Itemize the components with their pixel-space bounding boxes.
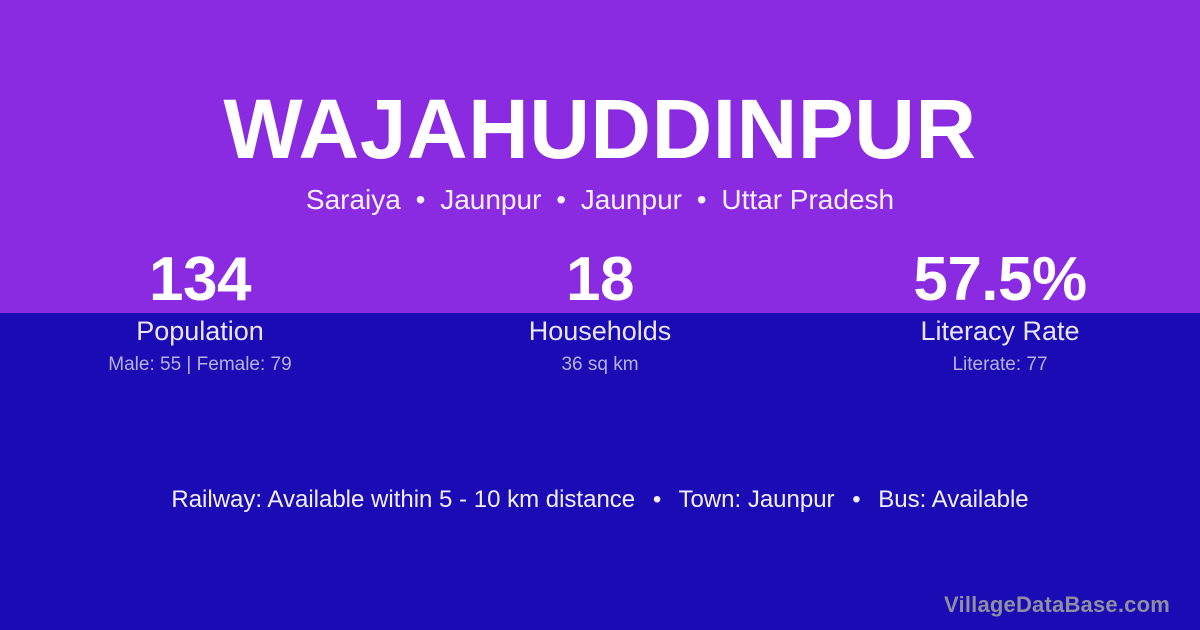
- stat-households: 18 Households 36 sq km: [400, 248, 800, 376]
- breadcrumb-block: Jaunpur: [440, 184, 541, 215]
- site-brand: VillageDataBase.com: [944, 592, 1170, 618]
- breadcrumb-separator: •: [409, 184, 433, 215]
- stat-value: 134: [0, 248, 400, 312]
- infra-town: Town: Jaunpur: [678, 486, 834, 513]
- breadcrumb-separator: •: [549, 184, 573, 215]
- breadcrumb-separator: •: [690, 184, 714, 215]
- breadcrumb-village: Saraiya: [306, 184, 401, 215]
- village-info-card: WAJAHUDDINPUR Saraiya • Jaunpur • Jaunpu…: [0, 0, 1200, 630]
- breadcrumb: Saraiya • Jaunpur • Jaunpur • Uttar Prad…: [0, 182, 1200, 218]
- stat-label: Literacy Rate: [800, 315, 1200, 347]
- stat-label: Population: [0, 315, 400, 347]
- stat-detail: 36 sq km: [400, 354, 800, 376]
- stat-label: Households: [400, 315, 800, 347]
- stat-detail: Male: 55 | Female: 79: [0, 354, 400, 376]
- infrastructure-summary: Railway: Available within 5 - 10 km dist…: [0, 485, 1200, 515]
- infra-separator: •: [841, 486, 871, 513]
- page-title: WAJAHUDDINPUR: [0, 81, 1200, 177]
- stat-value: 18: [400, 248, 800, 312]
- infra-bus: Bus: Available: [878, 486, 1028, 513]
- stat-literacy-rate: 57.5% Literacy Rate Literate: 77: [800, 248, 1200, 376]
- breadcrumb-district: Jaunpur: [581, 184, 682, 215]
- stat-detail: Literate: 77: [800, 354, 1200, 376]
- breadcrumb-state: Uttar Pradesh: [721, 184, 894, 215]
- stat-value: 57.5%: [800, 248, 1200, 312]
- infra-railway: Railway: Available within 5 - 10 km dist…: [171, 486, 635, 513]
- infra-separator: •: [642, 486, 672, 513]
- stats-row: 134 Population Male: 55 | Female: 79 18 …: [0, 248, 1200, 376]
- stat-population: 134 Population Male: 55 | Female: 79: [0, 248, 400, 376]
